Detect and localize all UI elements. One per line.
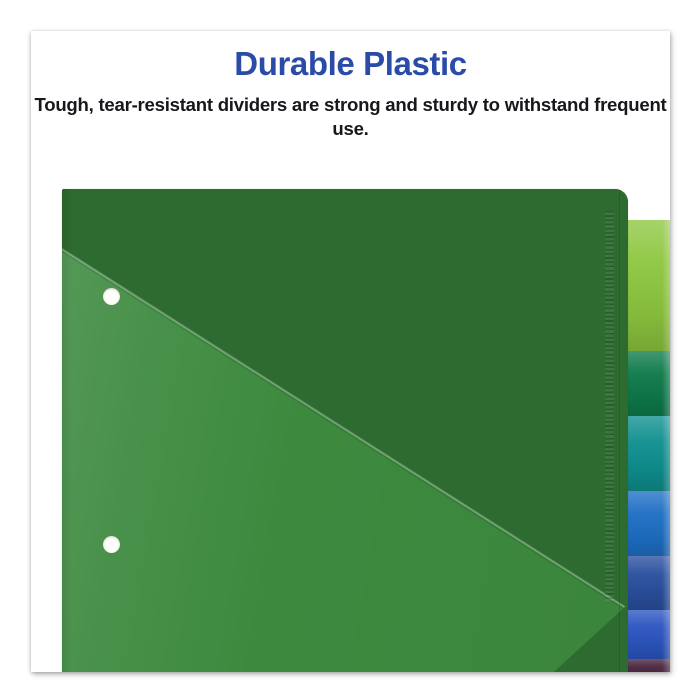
bottom-punch-hole (103, 536, 120, 553)
reinforced-binding-strip (605, 211, 614, 601)
top-punch-hole (103, 288, 120, 305)
divider-fold-seam (619, 189, 620, 672)
product-card: Durable Plastic Tough, tear-resistant di… (31, 31, 670, 672)
product-photo (31, 31, 670, 672)
product-image-canvas: Durable Plastic Tough, tear-resistant di… (0, 0, 700, 700)
green-plastic-divider-sheet (62, 189, 628, 672)
